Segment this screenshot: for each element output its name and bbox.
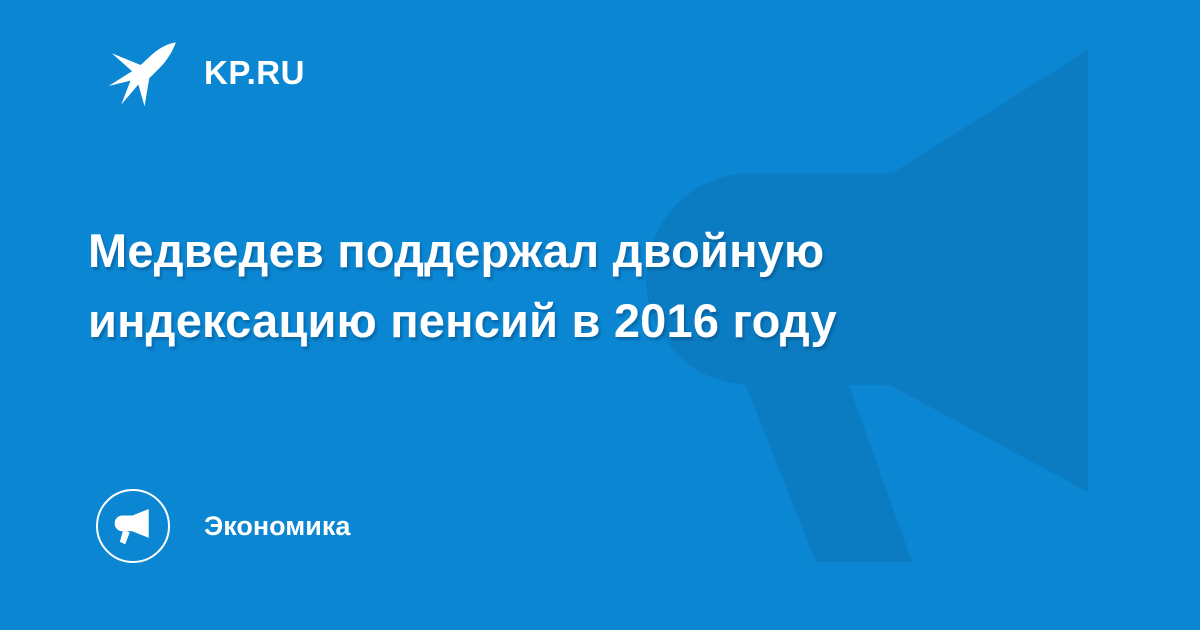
category-label: Экономика <box>204 513 350 540</box>
swallow-bird-icon <box>104 33 182 111</box>
brand-logo[interactable]: KP.RU <box>104 32 305 112</box>
category-icon-circle <box>96 489 170 563</box>
social-share-card: KP.RU Медведев поддержал двойную индекса… <box>0 0 1200 630</box>
page-title: Медведев поддержал двойную индексацию пе… <box>88 216 1048 356</box>
megaphone-icon <box>112 505 154 547</box>
category-badge[interactable]: Экономика <box>96 487 350 565</box>
page-title-line-1: Медведев поддержал двойную <box>88 216 1048 286</box>
page-title-line-2: индексацию пенсий в 2016 году <box>88 286 1048 356</box>
brand-name: KP.RU <box>204 56 305 89</box>
